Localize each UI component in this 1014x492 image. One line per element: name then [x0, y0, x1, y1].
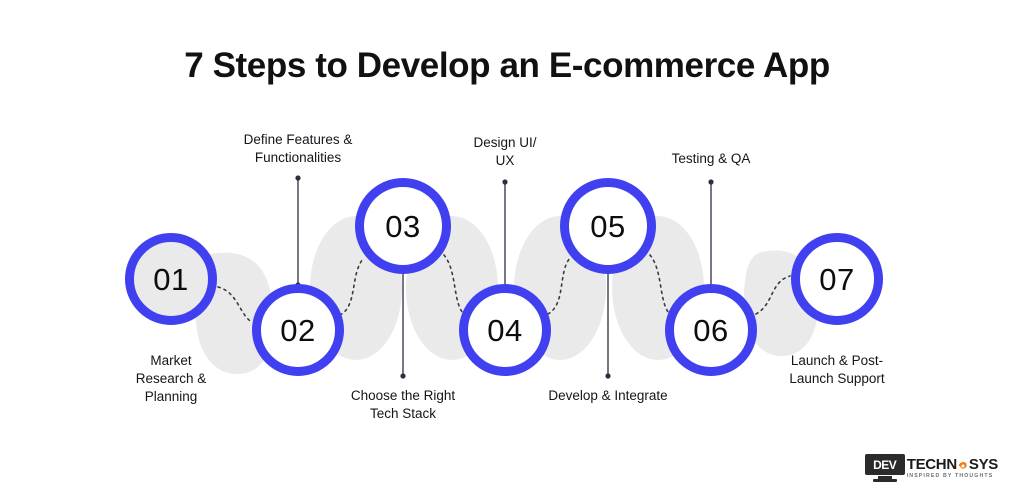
- monitor-icon: DEV: [865, 454, 905, 482]
- step-number-text: 02: [280, 315, 315, 346]
- step-number-text: 03: [385, 211, 420, 242]
- step-circle-04[interactable]: 04: [459, 284, 551, 376]
- step-label-06: Testing & QA: [636, 150, 786, 168]
- connector-05-06: [650, 255, 672, 316]
- connector-06-07: [756, 276, 790, 314]
- gear-icon: [958, 459, 968, 469]
- infographic-canvas: 7 Steps to Develop an E-commerce App: [0, 0, 1014, 492]
- step-label-04: Design UI/ UX: [430, 134, 580, 170]
- monitor-screen: DEV: [865, 454, 905, 475]
- step-circle-01[interactable]: 01: [125, 233, 217, 325]
- page-title: 7 Steps to Develop an E-commerce App: [0, 46, 1014, 86]
- stem-step-06: [708, 179, 713, 290]
- logo-tagline: INSPIRED BY THOUGHTS: [907, 474, 998, 479]
- stem-step-02: [295, 175, 300, 287]
- logo-word-techn: TECHN: [907, 457, 957, 472]
- step-circle-05[interactable]: 05: [560, 178, 656, 274]
- stem-step-04: [502, 179, 507, 290]
- step-number-text: 07: [819, 264, 854, 295]
- logo-dev-text: DEV: [873, 459, 896, 471]
- step-label-07: Launch & Post- Launch Support: [752, 352, 922, 388]
- connector-01-02: [218, 287, 252, 322]
- stem-step-03: [400, 261, 405, 378]
- step-circle-07[interactable]: 07: [791, 233, 883, 325]
- connector-02-03: [340, 258, 364, 315]
- step-label-05: Develop & Integrate: [518, 387, 698, 405]
- connector-04-05: [548, 258, 570, 314]
- step-circle-03[interactable]: 03: [355, 178, 451, 274]
- step-circle-06[interactable]: 06: [665, 284, 757, 376]
- step-number-text: 01: [153, 264, 188, 295]
- brand-logo: DEV TECHN SYS INSPIRED BY THOUGHTS: [865, 450, 998, 482]
- logo-word-row: TECHN SYS: [907, 457, 998, 472]
- stem-step-05: [605, 261, 610, 378]
- step-number-text: 05: [590, 211, 625, 242]
- step-circle-02[interactable]: 02: [252, 284, 344, 376]
- step-label-02: Define Features & Functionalities: [203, 131, 393, 167]
- monitor-base: [873, 479, 897, 482]
- connector-03-04: [444, 255, 466, 316]
- logo-word-sys: SYS: [969, 457, 998, 472]
- step-label-01: Market Research & Planning: [96, 352, 246, 407]
- logo-wordmark: TECHN SYS INSPIRED BY THOUGHTS: [907, 457, 998, 482]
- step-number-text: 06: [693, 315, 728, 346]
- step-number-text: 04: [487, 315, 522, 346]
- step-label-03: Choose the Right Tech Stack: [308, 387, 498, 423]
